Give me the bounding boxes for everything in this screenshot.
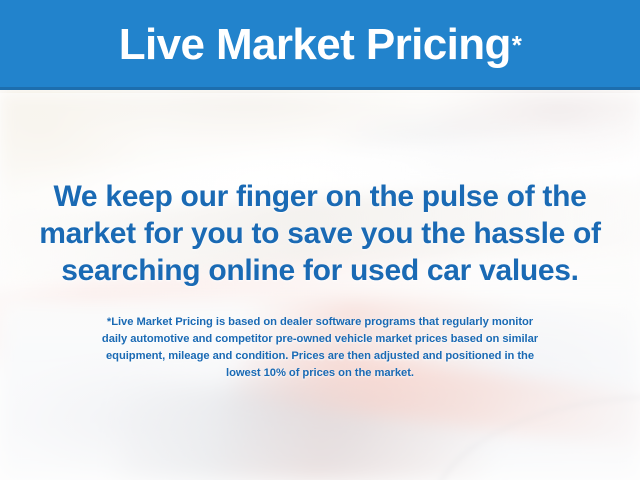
disclaimer-text: *Live Market Pricing is based on dealer … xyxy=(20,314,620,382)
disclaimer-line-3: equipment, mileage and condition. Prices… xyxy=(20,348,620,365)
background-dark-band xyxy=(120,385,540,480)
headline: We keep our finger on the pulse of the m… xyxy=(0,178,640,289)
headline-line-2: market for you to save you the hassle of xyxy=(0,215,640,252)
headline-line-3: searching online for used car values. xyxy=(0,252,640,289)
page-title: Live Market Pricing* xyxy=(0,0,640,90)
live-market-pricing-banner: Live Market Pricing* We keep our finger … xyxy=(0,0,640,480)
headline-line-1: We keep our finger on the pulse of the xyxy=(0,178,640,215)
disclaimer-line-4: lowest 10% of prices on the market. xyxy=(20,365,620,382)
background-fender-arc xyxy=(430,396,640,480)
disclaimer-line-2: daily automotive and competitor pre-owne… xyxy=(20,331,620,348)
disclaimer-line-1: *Live Market Pricing is based on dealer … xyxy=(20,314,620,331)
page-title-text: Live Market Pricing xyxy=(119,23,511,67)
